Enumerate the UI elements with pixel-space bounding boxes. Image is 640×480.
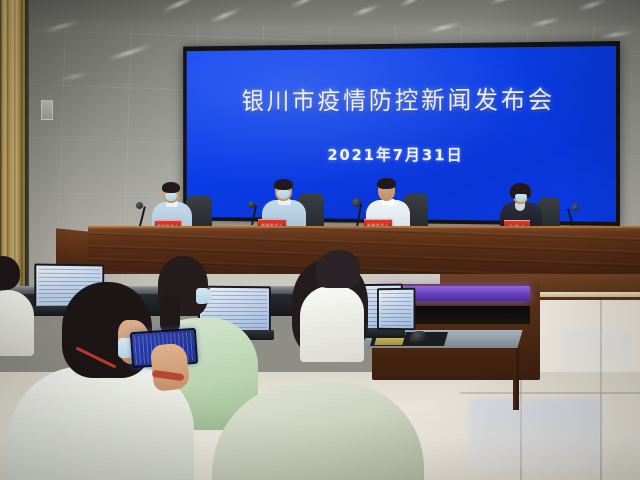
monitor-text-lines <box>381 293 412 326</box>
led-screen-surface: 银川市疫情防控新闻发布会 2021年7月31日 <box>187 46 616 222</box>
monitor-screen <box>377 288 415 331</box>
wall-vent-icon <box>41 100 53 120</box>
audience-body <box>300 286 364 362</box>
microphone-head-icon <box>248 201 255 208</box>
screen-headline: 银川市疫情防控新闻发布会 <box>187 80 616 117</box>
floor-tile-line <box>600 300 602 480</box>
floor-reflection <box>560 330 630 380</box>
panelist-hair <box>274 179 293 190</box>
audience-cap-icon <box>316 252 360 288</box>
microphone-head-icon <box>572 204 579 211</box>
curtain-folds <box>0 0 26 300</box>
floor-reflection <box>470 400 600 470</box>
audience-body <box>0 290 34 356</box>
curtain-edge <box>25 0 29 300</box>
microphone-head-icon <box>136 202 143 209</box>
console-leg <box>513 348 519 410</box>
hand-holding-phone <box>150 342 191 392</box>
panelist-hair <box>162 182 180 193</box>
panelist-hair <box>377 178 396 189</box>
microphone-head-icon <box>352 198 361 207</box>
press-conference-photo: 银川市疫情防控新闻发布会 2021年7月31日 新闻发言人 新 <box>0 0 640 480</box>
screen-date: 2021年7月31日 <box>187 141 616 165</box>
floor-tile-line <box>460 392 640 394</box>
